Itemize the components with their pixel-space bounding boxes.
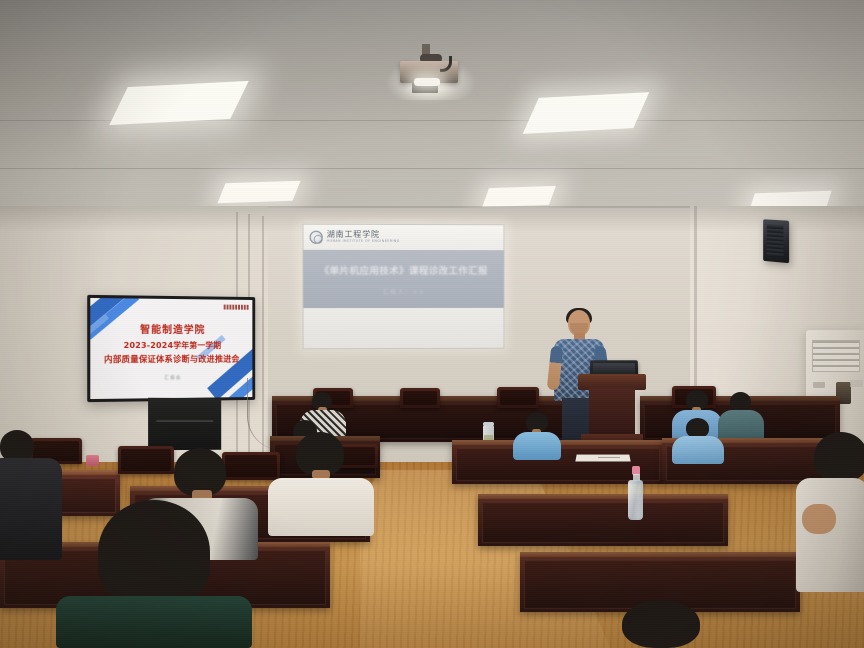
wall-speaker (763, 219, 789, 263)
ceiling-light-panel (217, 181, 300, 204)
audience-person (513, 412, 561, 460)
slide-footer-band (303, 308, 505, 349)
ceiling (0, 0, 864, 212)
audience-person (56, 500, 252, 648)
ceiling-projector (396, 44, 466, 90)
university-seal-icon (310, 230, 323, 243)
slide-header-band: 湖南工程学院 HUNAN INSTITUTE OF ENGINEERING (303, 224, 505, 250)
projection-screen: 湖南工程学院 HUNAN INSTITUTE OF ENGINEERING 《单… (303, 224, 505, 350)
slide-title-band: 《单片机应用技术》课程诊改工作汇报 汇报人：×× (303, 250, 505, 308)
water-bottle (628, 466, 643, 520)
projector-lens (414, 78, 440, 86)
ceiling-light-panel (523, 92, 650, 134)
slide-subtitle: 汇报人：×× (383, 287, 425, 296)
ceiling-light-panel (482, 186, 556, 207)
chair[interactable] (497, 387, 539, 408)
led-line-3: 内部质量保证体系诊断与改进推进会 (104, 352, 240, 364)
conference-desk (478, 494, 728, 546)
audience-person (268, 432, 374, 536)
document-papers (575, 455, 630, 462)
led-display-cabinet (148, 398, 221, 451)
ceiling-light-panel (109, 81, 249, 125)
wooden-podium (578, 360, 646, 452)
wall-led-display: 智能制造学院 2023-2024学年第一学期 内部质量保证体系诊断与改进推进会 … (87, 295, 255, 402)
classroom-scene: 湖南工程学院 HUNAN INSTITUTE OF ENGINEERING 《单… (0, 0, 864, 648)
led-line-4: 汇报会 (164, 374, 181, 380)
audience-person (672, 418, 724, 464)
led-line-2: 2023-2024学年第一学期 (124, 339, 222, 350)
pink-item (86, 455, 99, 466)
university-logo-english: HUNAN INSTITUTE OF ENGINEERING (327, 240, 400, 243)
audience-person (796, 432, 864, 592)
chair[interactable] (400, 388, 440, 408)
slide-title: 《单片机应用技术》课程诊改工作汇报 (320, 262, 488, 276)
university-logo-chinese: 湖南工程学院 (327, 231, 400, 239)
led-line-1: 智能制造学院 (140, 320, 205, 335)
audience-person (0, 430, 62, 560)
audience-person (596, 600, 726, 648)
